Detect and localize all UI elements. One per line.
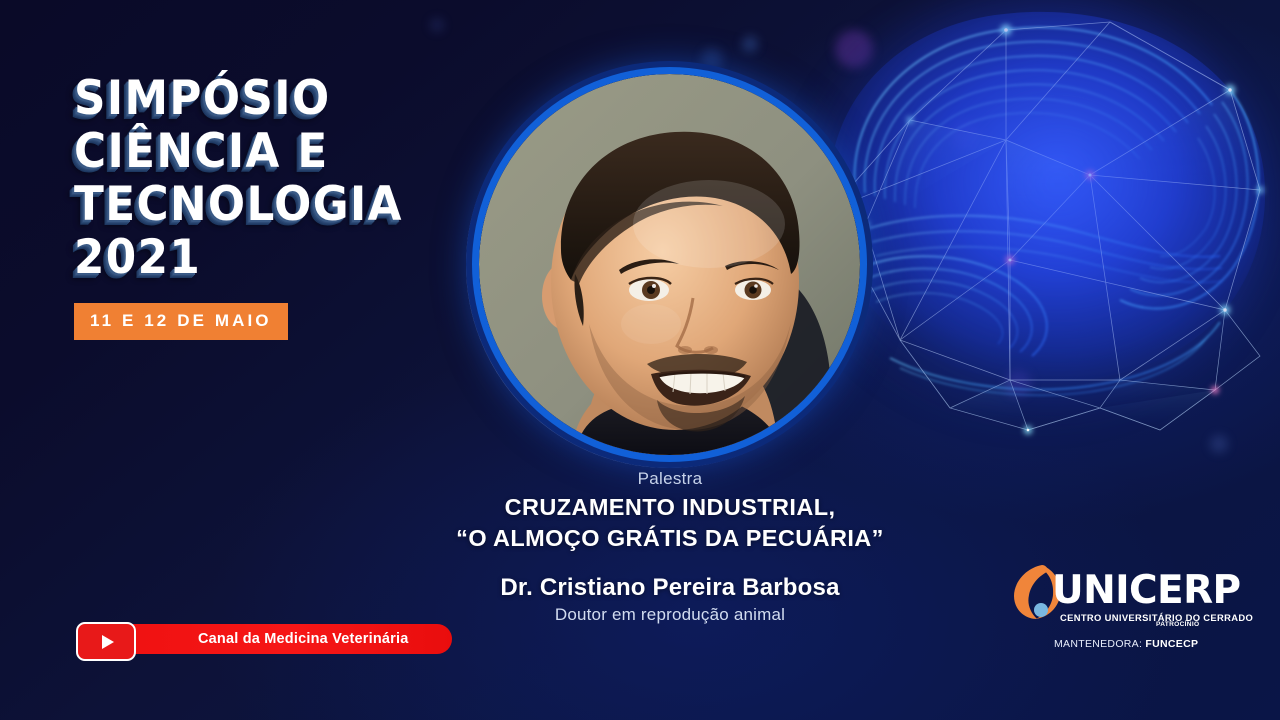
bokeh-particle [950,120,980,150]
title-line-4: 2021 [74,231,446,284]
bokeh-particle [1005,370,1031,396]
bokeh-particle [430,18,444,32]
speaker-role: Doutor em reprodução animal [270,604,1070,626]
youtube-pill[interactable]: Canal da Medicina Veterinária [104,624,452,654]
youtube-channel-label: Canal da Medicina Veterinária [198,631,409,647]
unicerp-city: PATROCÍNIO [1156,621,1199,628]
title-line-2: CIÊNCIA E [74,125,446,178]
title-line-3: TECNOLOGIA [74,178,446,231]
bokeh-particle [742,36,758,52]
talk-kicker: Palestra [270,468,1070,490]
portrait-photo [479,74,860,455]
title-line-1: SIMPÓSIO [74,72,446,125]
unicerp-maintainer: MANTENEDORA: FUNCECP [1054,638,1198,650]
maintainer-name: FUNCECP [1145,638,1198,650]
event-title: SIMPÓSIO CIÊNCIA E TECNOLOGIA 2021 11 E … [74,72,474,340]
bokeh-particle [835,30,873,68]
maintainer-prefix: MANTENEDORA: [1054,638,1145,650]
unicerp-logo: UNICERP CENTRO UNIVERSITÁRIO DO CERRADO … [1008,560,1223,665]
event-poster: SIMPÓSIO CIÊNCIA E TECNOLOGIA 2021 11 E … [0,0,1280,720]
event-date-badge: 11 E 12 DE MAIO [74,303,288,340]
speaker-portrait [479,74,860,455]
play-triangle-icon [102,635,114,649]
talk-topic-line-2: “O ALMOÇO GRÁTIS DA PECUÁRIA” [270,525,1070,552]
youtube-play-icon[interactable] [76,622,136,661]
unicerp-wordmark: UNICERP [1052,571,1241,610]
speaker-name: Dr. Cristiano Pereira Barbosa [270,574,1070,602]
bokeh-particle [1210,435,1228,453]
talk-topic-line-1: CRUZAMENTO INDUSTRIAL, [270,494,1070,521]
talk-caption-block: Palestra CRUZAMENTO INDUSTRIAL, “O ALMOÇ… [270,468,1070,626]
